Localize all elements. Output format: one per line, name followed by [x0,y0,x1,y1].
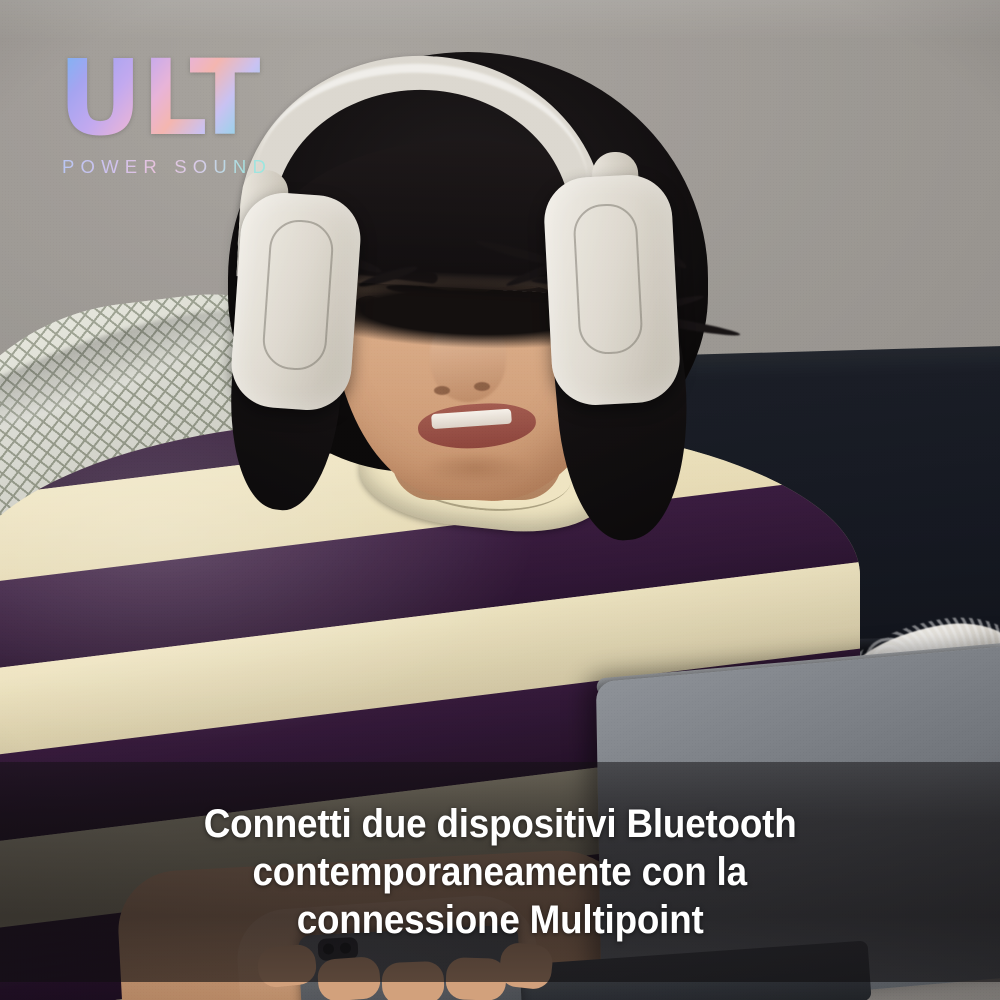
teeth [431,409,512,430]
earcup-seam-left [261,218,335,372]
ult-logo: ULT POWER SOUND [58,48,288,178]
hair-wisp [417,283,487,327]
caption-line-1: Connetti due dispositivi Bluetooth [204,800,797,848]
caption-line-2: contemporaneamente con la [253,848,747,896]
earcup-seam-right [572,202,644,355]
caption-line-3: connessione Multipoint [297,896,704,944]
ult-wordmark: ULT [58,48,288,150]
chin-shadow [400,452,550,492]
ult-tagline: POWER SOUND [62,156,288,178]
hair-wisp [443,309,525,329]
caption-block: Connetti due dispositivi Bluetooth conte… [0,762,1000,982]
product-feature-image: ULT POWER SOUND Connetti due dispositivi… [0,0,1000,1000]
nostril-right [474,382,490,391]
nostril-left [434,386,450,395]
